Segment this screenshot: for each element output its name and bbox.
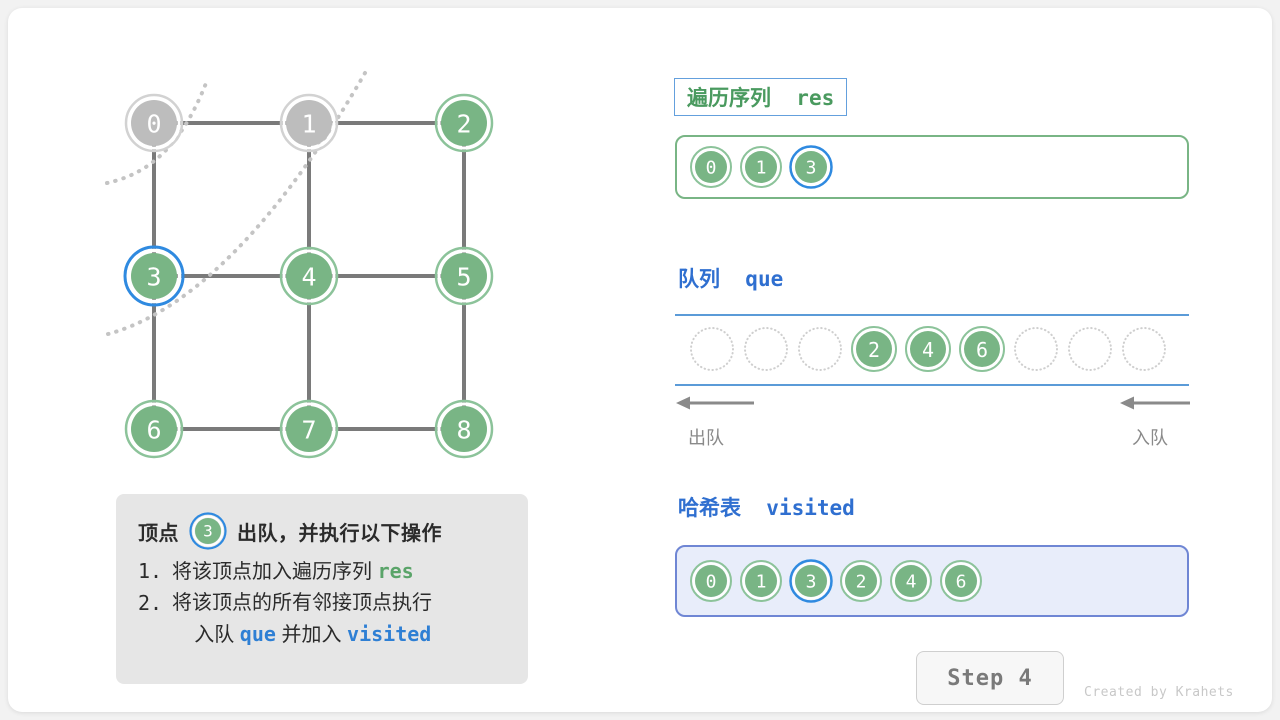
caption-chip-label: 3 — [203, 522, 213, 541]
enqueue-label: 入队 — [1132, 424, 1168, 450]
node-label: 1 — [301, 110, 316, 139]
graph-node-4[interactable]: 4 — [281, 248, 337, 304]
graph-nodes: 012345678 — [125, 95, 492, 457]
chip-label: 0 — [706, 158, 717, 179]
visited-chip[interactable]: 1 — [739, 559, 783, 603]
dequeue-label: 出队 — [688, 424, 724, 450]
caption-step-item: 1.将该顶点加入遍历序列 res — [138, 556, 506, 588]
graph-node-5[interactable]: 5 — [436, 248, 492, 304]
dequeue-arrow-icon — [676, 394, 756, 412]
step-badge: Step 4 — [916, 651, 1064, 705]
caption-step-index: 2. — [138, 588, 172, 651]
res-chip-row: 013 — [689, 137, 833, 197]
graph-node-7[interactable]: 7 — [281, 401, 337, 457]
node-label: 5 — [456, 263, 471, 292]
visited-chip[interactable]: 2 — [839, 559, 883, 603]
res-title: 遍历序列 res — [687, 82, 834, 112]
chip-label: 4 — [906, 572, 917, 593]
empty-slot-ring — [799, 328, 841, 370]
chip-label: 2 — [856, 572, 867, 593]
caption-plain-text: 将该顶点加入遍历序列 — [172, 561, 378, 583]
step-badge-label: Step 4 — [947, 666, 1032, 691]
content-card: 012345678 顶点 3 出队，并执行以下操作 1.将该顶点加入遍历序列 r… — [8, 8, 1272, 712]
code-token-res: res — [378, 559, 414, 583]
queue-slot[interactable]: 6 — [958, 325, 1006, 373]
graph-node-0[interactable]: 0 — [126, 95, 182, 151]
node-label: 7 — [301, 416, 316, 445]
caption-chip-svg: 3 — [189, 512, 227, 550]
visited-chip[interactable]: 6 — [939, 559, 983, 603]
graph-panel: 012345678 — [8, 8, 628, 508]
empty-slot-ring — [1123, 328, 1165, 370]
visited-chip[interactable]: 3 — [789, 559, 833, 603]
state-panel: 遍历序列 res 013 队列 que 246 出队 — [668, 8, 1228, 708]
visited-container: 013246 — [675, 545, 1189, 617]
chip-label: 0 — [706, 572, 717, 593]
res-container: 013 — [675, 135, 1189, 199]
caption-vertex-chip: 3 — [189, 512, 227, 550]
node-label: 3 — [146, 263, 161, 292]
queue-slot[interactable] — [1066, 325, 1114, 373]
chip-label: 1 — [756, 158, 767, 179]
empty-slot-ring — [691, 328, 733, 370]
queue-slot[interactable] — [742, 325, 790, 373]
caption-headline: 顶点 3 出队，并执行以下操作 — [138, 508, 506, 554]
queue-rail-bottom — [675, 384, 1189, 386]
empty-slot-ring — [1015, 328, 1057, 370]
code-token: que — [240, 622, 276, 646]
caption-step-item: 2.将该顶点的所有邻接顶点执行 入队 que 并加入 visited — [138, 588, 506, 651]
graph-node-8[interactable]: 8 — [436, 401, 492, 457]
caption-head-prefix: 顶点 — [138, 517, 179, 546]
caption-step-text: 将该顶点加入遍历序列 res — [172, 556, 414, 588]
step-caption-box: 顶点 3 出队，并执行以下操作 1.将该顶点加入遍历序列 res2.将该顶点的所… — [116, 494, 528, 684]
chip-label: 3 — [806, 158, 817, 179]
node-label: 4 — [301, 263, 316, 292]
res-chip[interactable]: 1 — [739, 145, 783, 189]
credit-text: Created by Krahets — [1084, 685, 1234, 700]
graph-svg: 012345678 — [8, 8, 628, 508]
caption-step-index: 1. — [138, 556, 172, 588]
graph-node-1[interactable]: 1 — [281, 95, 337, 151]
chip-label: 6 — [976, 338, 988, 362]
visited-title: 哈希表 visited — [678, 492, 855, 522]
chip-label: 3 — [806, 572, 817, 593]
empty-slot-ring — [745, 328, 787, 370]
screenshot-root: 012345678 顶点 3 出队，并执行以下操作 1.将该顶点加入遍历序列 r… — [0, 0, 1280, 720]
caption-step-list: 1.将该顶点加入遍历序列 res2.将该顶点的所有邻接顶点执行 入队 que 并… — [138, 556, 506, 651]
visited-chip[interactable]: 4 — [889, 559, 933, 603]
chip-label: 6 — [956, 572, 967, 593]
node-label: 0 — [146, 110, 161, 139]
queue-slot[interactable] — [1120, 325, 1168, 373]
graph-node-3[interactable]: 3 — [125, 247, 183, 305]
chip-label: 4 — [922, 338, 934, 362]
res-chip[interactable]: 0 — [689, 145, 733, 189]
queue-slot[interactable] — [688, 325, 736, 373]
graph-node-6[interactable]: 6 — [126, 401, 182, 457]
res-title-box: 遍历序列 res — [674, 78, 847, 116]
queue-slot-row: 246 — [688, 314, 1178, 384]
visited-chip-row: 013246 — [689, 547, 983, 615]
enqueue-arrow-icon — [1120, 394, 1192, 412]
que-title: 队列 que — [678, 263, 783, 293]
empty-slot-ring — [1069, 328, 1111, 370]
enqueue-arrow — [1120, 394, 1192, 417]
res-chip[interactable]: 3 — [789, 145, 833, 189]
chip-label: 1 — [756, 572, 767, 593]
chip-label: 2 — [868, 338, 880, 362]
queue-slot[interactable]: 2 — [850, 325, 898, 373]
node-label: 2 — [456, 110, 471, 139]
graph-node-2[interactable]: 2 — [436, 95, 492, 151]
node-label: 8 — [456, 416, 471, 445]
caption-step-text: 将该顶点的所有邻接顶点执行 入队 que 并加入 visited — [172, 588, 432, 651]
queue-slot[interactable]: 4 — [904, 325, 952, 373]
visited-chip[interactable]: 0 — [689, 559, 733, 603]
node-label: 6 — [146, 416, 161, 445]
code-token: visited — [347, 622, 431, 646]
caption-plain-text: 并加入 — [276, 624, 347, 646]
dequeue-arrow — [676, 394, 756, 417]
caption-head-suffix: 出队，并执行以下操作 — [237, 517, 442, 546]
queue-slot[interactable] — [1012, 325, 1060, 373]
queue-slot[interactable] — [796, 325, 844, 373]
